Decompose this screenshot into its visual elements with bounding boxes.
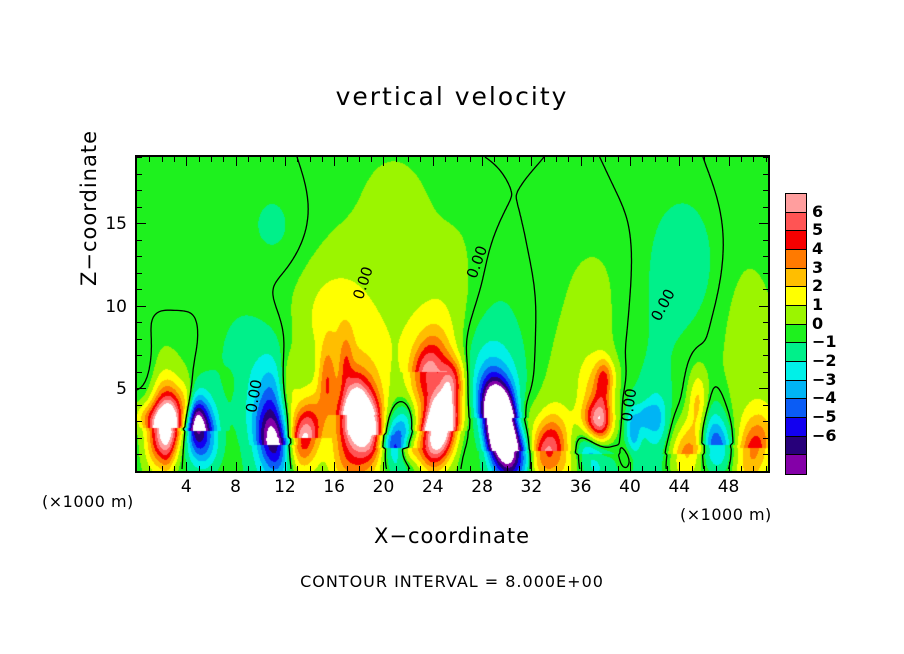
y-axis-tick [137, 240, 142, 241]
y-axis-tick [137, 421, 142, 422]
x-axis-tick [655, 157, 656, 162]
x-axis-tick [544, 157, 545, 162]
x-axis-tick [236, 157, 237, 166]
y-axis-tick [137, 372, 142, 373]
x-axis-tick [334, 157, 335, 166]
colorbar-tick-label: 4 [812, 241, 823, 257]
x-axis-tick [630, 157, 631, 166]
contour-path-zero [137, 157, 733, 469]
x-axis-tick [655, 466, 656, 471]
y-axis-tick [137, 306, 146, 307]
x-axis-tick [568, 157, 569, 162]
x-axis-tick [347, 157, 348, 162]
colorbar-tick-label: −6 [812, 428, 837, 444]
x-axis-tick [716, 466, 717, 471]
x-axis-tick-label: 24 [413, 477, 453, 497]
x-axis-tick [593, 466, 594, 471]
x-axis-tick [741, 157, 742, 162]
colorbar [785, 193, 807, 475]
x-axis-tick [482, 462, 483, 471]
x-axis-tick [297, 466, 298, 471]
x-axis-tick [556, 466, 557, 471]
x-axis-tick [396, 466, 397, 471]
colorbar-tick-label: 6 [812, 204, 823, 220]
y-axis-tick [137, 388, 146, 389]
y-axis-tick [763, 421, 768, 422]
colorbar-band [786, 455, 806, 474]
x-axis-tick [679, 462, 680, 471]
colorbar-tick-label: 1 [812, 297, 823, 313]
colorbar-tick-label: 3 [812, 260, 823, 276]
x-axis-tick [642, 466, 643, 471]
x-axis-tick [420, 466, 421, 471]
x-axis-tick [581, 157, 582, 166]
x-axis-tick [347, 466, 348, 471]
y-axis-tick [137, 190, 142, 191]
x-axis-unit-label: (×1000 m) [680, 505, 772, 524]
x-axis-title: X−coordinate [0, 524, 904, 548]
x-axis-tick [260, 157, 261, 162]
contour-interval-caption: CONTOUR INTERVAL = 8.000E+00 [0, 572, 904, 591]
page-title: vertical velocity [0, 82, 904, 111]
x-axis-tick [162, 157, 163, 162]
contour-plot-frame: 0.000.000.000.000.00 [135, 155, 770, 473]
x-axis-tick [679, 157, 680, 166]
contour-label-group: 0.00 [617, 384, 640, 426]
colorbar-tick-label: −5 [812, 409, 837, 425]
contour-level-label: 0.00 [647, 286, 679, 324]
x-axis-tick [692, 157, 693, 162]
y-axis-tick [763, 405, 768, 406]
x-axis-tick [593, 157, 594, 162]
x-axis-tick [396, 157, 397, 162]
x-axis-tick-label: 40 [610, 477, 650, 497]
colorbar-band [786, 437, 806, 456]
x-axis-tick [445, 157, 446, 162]
x-axis-tick [359, 466, 360, 471]
colorbar-tick-label: −4 [812, 390, 837, 406]
y-axis-tick [137, 256, 142, 257]
colorbar-band [786, 362, 806, 381]
contour-label-group: 0.00 [242, 375, 267, 418]
x-axis-tick [741, 466, 742, 471]
x-axis-tick [605, 157, 606, 162]
colorbar-band [786, 399, 806, 418]
colorbar-band [786, 418, 806, 437]
x-axis-tick [211, 157, 212, 162]
x-axis-tick [531, 157, 532, 166]
colorbar-tick-label: 5 [812, 222, 823, 238]
colorbar-band [786, 231, 806, 250]
x-axis-tick-label: 36 [561, 477, 601, 497]
x-axis-tick [494, 157, 495, 162]
x-axis-tick [334, 462, 335, 471]
x-axis-tick [149, 157, 150, 162]
x-axis-tick [223, 157, 224, 162]
x-axis-tick [716, 157, 717, 162]
x-axis-tick [383, 462, 384, 471]
x-axis-tick [457, 157, 458, 162]
colorbar-band [786, 287, 806, 306]
contour-level-label: 0.00 [242, 378, 266, 414]
x-axis-tick [507, 157, 508, 162]
y-axis-tick [763, 372, 768, 373]
contour-level-label: 0.00 [618, 387, 640, 423]
colorbar-tick-label: −1 [812, 334, 837, 350]
x-axis-tick [310, 466, 311, 471]
y-axis-tick [763, 355, 768, 356]
x-axis-tick [507, 466, 508, 471]
x-axis-tick [753, 157, 754, 162]
y-axis-tick [137, 438, 142, 439]
x-axis-tick [174, 466, 175, 471]
x-axis-tick [248, 157, 249, 162]
y-axis-tick [763, 339, 768, 340]
x-axis-tick-label: 20 [363, 477, 403, 497]
y-axis-tick [763, 438, 768, 439]
contour-label-group: 0.00 [348, 261, 377, 305]
y-axis-tick-label: 5 [91, 379, 127, 399]
x-axis-tick [174, 157, 175, 162]
colorbar-band [786, 306, 806, 325]
x-axis-tick [236, 462, 237, 471]
x-axis-tick [692, 466, 693, 471]
colorbar-tick-label: −2 [812, 353, 837, 369]
y-axis-tick [763, 174, 768, 175]
x-axis-tick [618, 157, 619, 162]
y-axis-tick [763, 207, 768, 208]
y-axis-tick [137, 405, 142, 406]
y-axis-tick [759, 223, 768, 224]
x-axis-tick [433, 462, 434, 471]
colorbar-tick-label: −3 [812, 372, 837, 388]
x-axis-tick [260, 466, 261, 471]
x-axis-tick-label: 4 [166, 477, 206, 497]
x-axis-tick [618, 466, 619, 471]
y-axis-tick [137, 273, 142, 274]
x-axis-tick [667, 466, 668, 471]
x-axis-tick [371, 466, 372, 471]
x-axis-tick [199, 157, 200, 162]
x-axis-tick [605, 466, 606, 471]
x-axis-tick [273, 157, 274, 162]
y-axis-tick [759, 306, 768, 307]
x-axis-tick [568, 466, 569, 471]
x-axis-tick [359, 157, 360, 162]
x-axis-tick [211, 466, 212, 471]
y-axis-tick [763, 190, 768, 191]
y-axis-tick [137, 355, 142, 356]
x-axis-tick-label: 16 [314, 477, 354, 497]
x-axis-tick [285, 157, 286, 166]
colorbar-tick-label: 2 [812, 278, 823, 294]
y-axis-tick [137, 322, 142, 323]
x-axis-tick [433, 157, 434, 166]
x-axis-tick [729, 157, 730, 166]
x-axis-tick [470, 466, 471, 471]
y-axis-tick [763, 256, 768, 257]
y-axis-tick [137, 454, 142, 455]
y-axis-title: Z−coordinate [77, 93, 101, 323]
colorbar-tick-label: 0 [812, 316, 823, 332]
x-axis-tick [371, 157, 372, 162]
zero-contour-lines: 0.000.000.000.000.00 [137, 157, 768, 471]
y-axis-tick [763, 273, 768, 274]
y-axis-tick [137, 174, 142, 175]
y-axis-tick [137, 289, 142, 290]
x-axis-tick [186, 157, 187, 166]
x-axis-tick [457, 466, 458, 471]
contour-label-group: 0.00 [646, 283, 681, 327]
x-axis-tick [494, 466, 495, 471]
x-axis-tick [248, 466, 249, 471]
x-axis-tick [445, 466, 446, 471]
x-axis-tick [704, 157, 705, 162]
x-axis-tick [297, 157, 298, 162]
colorbar-band [786, 250, 806, 269]
x-axis-tick [556, 157, 557, 162]
x-axis-tick [766, 466, 767, 471]
x-axis-tick [408, 466, 409, 471]
x-axis-tick [544, 466, 545, 471]
colorbar-band [786, 343, 806, 362]
y-axis-tick [759, 388, 768, 389]
colorbar-band [786, 381, 806, 400]
x-axis-tick [519, 157, 520, 162]
x-axis-tick [162, 466, 163, 471]
x-axis-tick [322, 466, 323, 471]
x-axis-tick [383, 157, 384, 166]
x-axis-tick [531, 462, 532, 471]
x-axis-tick-label: 44 [659, 477, 699, 497]
x-axis-tick-label: 48 [709, 477, 749, 497]
x-axis-tick [630, 462, 631, 471]
y-axis-tick [763, 240, 768, 241]
colorbar-band [786, 269, 806, 288]
x-axis-tick [285, 462, 286, 471]
x-axis-tick [470, 157, 471, 162]
x-axis-tick [273, 466, 274, 471]
x-axis-tick [408, 157, 409, 162]
x-axis-tick [223, 466, 224, 471]
colorbar-band [786, 213, 806, 232]
y-axis-tick [763, 157, 768, 158]
y-axis-tick [763, 289, 768, 290]
colorbar-band [786, 325, 806, 344]
y-axis-tick [137, 157, 142, 158]
contour-level-label: 0.00 [349, 264, 376, 301]
x-axis-tick-label: 28 [462, 477, 502, 497]
x-axis-tick-label: 12 [265, 477, 305, 497]
x-axis-tick [199, 466, 200, 471]
x-axis-tick [704, 466, 705, 471]
y-axis-tick [137, 223, 146, 224]
x-axis-tick [753, 466, 754, 471]
x-axis-tick [482, 157, 483, 166]
x-axis-tick-label: 32 [511, 477, 551, 497]
x-axis-tick [642, 157, 643, 162]
x-axis-tick [729, 462, 730, 471]
y-axis-tick [763, 454, 768, 455]
colorbar-band [786, 194, 806, 213]
y-axis-tick [763, 322, 768, 323]
x-axis-tick [519, 466, 520, 471]
x-axis-tick [322, 157, 323, 162]
x-axis-tick [667, 157, 668, 162]
x-axis-tick [310, 157, 311, 162]
x-axis-tick [186, 462, 187, 471]
y-axis-tick [137, 207, 142, 208]
y-axis-tick [137, 339, 142, 340]
y-axis-unit-label: (×1000 m) [42, 492, 134, 511]
x-axis-tick [581, 462, 582, 471]
contour-label-group: 0.00 [462, 240, 493, 284]
x-axis-tick [149, 466, 150, 471]
x-axis-tick-label: 8 [216, 477, 256, 497]
x-axis-tick [420, 157, 421, 162]
